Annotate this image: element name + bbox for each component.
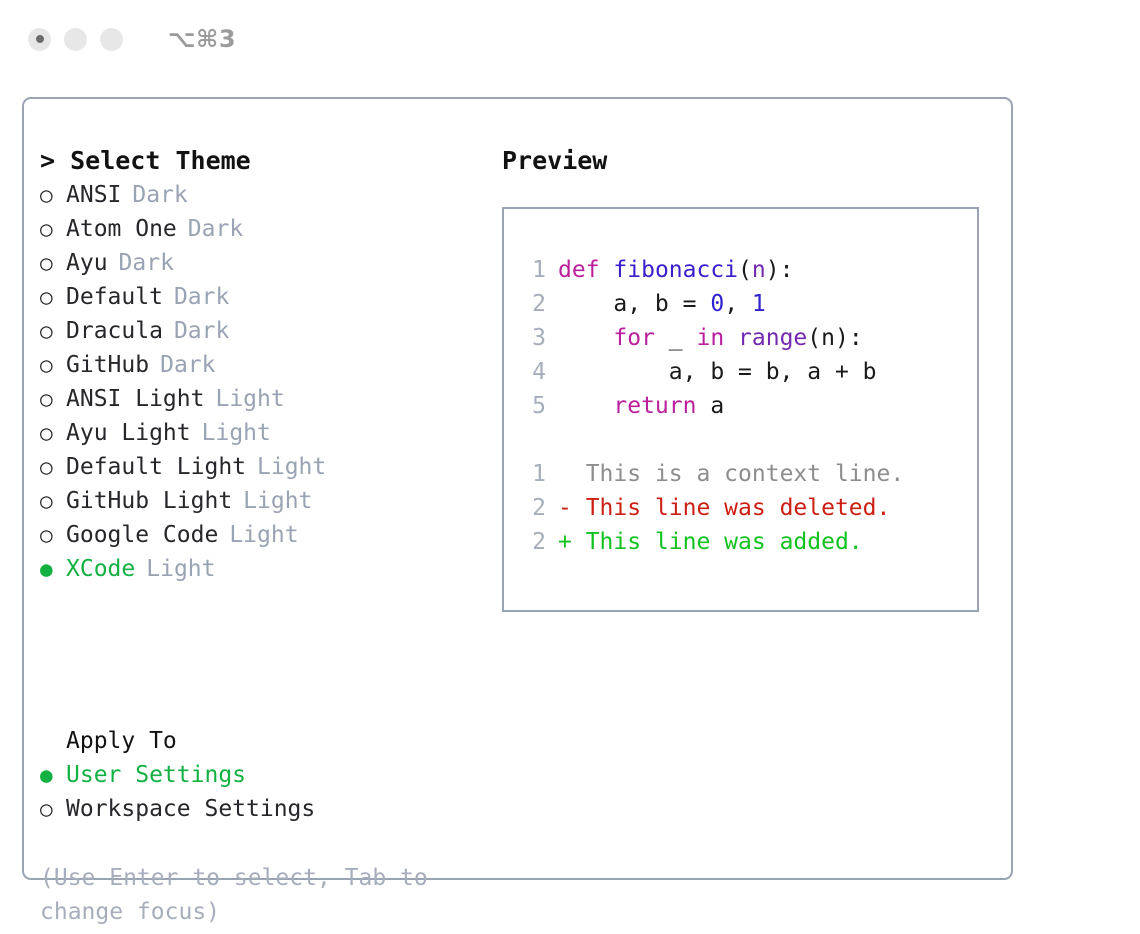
radio-unselected-icon: ○ (40, 314, 66, 348)
code-token: fibonacci (613, 257, 738, 283)
theme-kind-badge: Dark (188, 212, 243, 246)
radio-unselected-icon: ○ (40, 792, 66, 826)
code-token: ): (766, 257, 794, 283)
code-line: 4 a, b = b, a + b (522, 355, 977, 389)
theme-list-item[interactable]: ○DraculaDark (40, 314, 480, 348)
radio-unselected-icon: ○ (40, 484, 66, 518)
code-line-number: 3 (522, 321, 546, 355)
window-control-minimize[interactable] (64, 28, 87, 51)
code-token: , (724, 291, 752, 317)
theme-list: > Select Theme ○ANSIDark○Atom OneDark○Ay… (40, 144, 480, 586)
diff-line: 2- This line was deleted. (522, 491, 977, 525)
code-line: 1def fibonacci(n): (522, 253, 977, 287)
theme-kind-badge: Dark (174, 280, 229, 314)
theme-list-item[interactable]: ○Atom OneDark (40, 212, 480, 246)
theme-name: Ayu Light (66, 416, 191, 450)
theme-kind-badge: Dark (160, 348, 215, 382)
theme-list-heading: > Select Theme (40, 144, 480, 178)
radio-unselected-icon: ○ (40, 212, 66, 246)
theme-kind-badge: Light (257, 450, 326, 484)
theme-picker-panel: > Select Theme ○ANSIDark○Atom OneDark○Ay… (22, 97, 1013, 880)
code-line: 3 for _ in range(n): (522, 321, 977, 355)
code-token: return (613, 393, 696, 419)
theme-kind-badge: Light (229, 518, 298, 552)
theme-list-item[interactable]: ○GitHub LightLight (40, 484, 480, 518)
window-titlebar: ⌥⌘3 (0, 0, 1140, 78)
app-window: ⌥⌘3 > Select Theme ○ANSIDark○Atom OneDar… (0, 0, 1140, 934)
window-control-zoom[interactable] (100, 28, 123, 51)
apply-to-section: Apply To ●User Settings○Workspace Settin… (40, 724, 480, 826)
window-control-close[interactable] (28, 28, 51, 51)
code-token: n (752, 257, 766, 283)
code-token: def (558, 257, 600, 283)
preview-box: 1def fibonacci(n):2 a, b = 0, 13 for _ i… (502, 207, 979, 612)
keyboard-shortcut-label: ⌥⌘3 (168, 25, 236, 53)
diff-line-number: 2 (522, 525, 546, 559)
diff-text: This is a context line. (572, 461, 904, 487)
window-controls (28, 28, 123, 51)
apply-to-label: Workspace Settings (66, 792, 315, 826)
radio-unselected-icon: ○ (40, 280, 66, 314)
radio-unselected-icon: ○ (40, 246, 66, 280)
diff-marker: - (558, 495, 572, 521)
code-token (558, 393, 613, 419)
code-line-number: 4 (522, 355, 546, 389)
keyboard-hint-text: (Use Enter to select, Tab to change focu… (40, 861, 452, 929)
theme-name: Google Code (66, 518, 218, 552)
theme-list-item[interactable]: ○AyuDark (40, 246, 480, 280)
code-token: _ (655, 325, 697, 351)
theme-list-item[interactable]: ●XCodeLight (40, 552, 480, 586)
diff-marker (558, 461, 572, 487)
theme-list-item[interactable]: ○DefaultDark (40, 280, 480, 314)
theme-list-item[interactable]: ○Google CodeLight (40, 518, 480, 552)
code-token: for (613, 325, 655, 351)
code-line: 2 a, b = 0, 1 (522, 287, 977, 321)
code-token: in (696, 325, 724, 351)
radio-unselected-icon: ○ (40, 348, 66, 382)
radio-selected-icon: ● (40, 758, 66, 792)
apply-to-options: ●User Settings○Workspace Settings (40, 758, 480, 826)
diff-line-number: 1 (522, 457, 546, 491)
diff-line-number: 2 (522, 491, 546, 525)
code-blank-line (522, 423, 977, 457)
radio-unselected-icon: ○ (40, 382, 66, 416)
theme-name: GitHub (66, 348, 149, 382)
radio-unselected-icon: ○ (40, 450, 66, 484)
code-preview-area: 1def fibonacci(n):2 a, b = 0, 13 for _ i… (504, 209, 977, 559)
theme-name: XCode (66, 552, 135, 586)
theme-list-item[interactable]: ○Ayu LightLight (40, 416, 480, 450)
code-token (558, 325, 613, 351)
code-token: 0 (710, 291, 724, 317)
theme-list-rows: ○ANSIDark○Atom OneDark○AyuDark○DefaultDa… (40, 178, 480, 586)
theme-kind-badge: Light (202, 416, 271, 450)
code-line-number: 2 (522, 287, 546, 321)
theme-kind-badge: Light (215, 382, 284, 416)
code-token: a (696, 393, 724, 419)
theme-kind-badge: Light (146, 552, 215, 586)
preview-header: Preview (502, 144, 992, 178)
radio-unselected-icon: ○ (40, 178, 66, 212)
diff-line: 1 This is a context line. (522, 457, 977, 491)
code-line: 5 return a (522, 389, 977, 423)
code-token: (n): (807, 325, 862, 351)
theme-name: Default Light (66, 450, 246, 484)
code-token: a, b = b, a + b (558, 359, 877, 385)
apply-to-label: User Settings (66, 758, 246, 792)
theme-list-item[interactable]: ○ANSIDark (40, 178, 480, 212)
apply-to-heading: Apply To (40, 724, 480, 758)
theme-name: Atom One (66, 212, 177, 246)
theme-list-item[interactable]: ○GitHubDark (40, 348, 480, 382)
apply-to-option[interactable]: ●User Settings (40, 758, 480, 792)
code-line-number: 5 (522, 389, 546, 423)
code-token: 1 (752, 291, 766, 317)
radio-selected-icon: ● (40, 552, 66, 586)
theme-name: Ayu (66, 246, 108, 280)
theme-name: GitHub Light (66, 484, 232, 518)
radio-unselected-icon: ○ (40, 416, 66, 450)
code-token: a, b = (558, 291, 710, 317)
code-token: ( (738, 257, 752, 283)
diff-text: This line was added. (572, 529, 863, 555)
code-token (600, 257, 614, 283)
diff-marker: + (558, 529, 572, 555)
diff-text: This line was deleted. (572, 495, 891, 521)
theme-kind-badge: Dark (174, 314, 229, 348)
apply-to-option[interactable]: ○Workspace Settings (40, 792, 480, 826)
theme-name: ANSI (66, 178, 121, 212)
code-line-number: 1 (522, 253, 546, 287)
theme-kind-badge: Light (243, 484, 312, 518)
diff-line: 2+ This line was added. (522, 525, 977, 559)
theme-name: Default (66, 280, 163, 314)
code-token: range (738, 325, 807, 351)
theme-name: Dracula (66, 314, 163, 348)
code-token (724, 325, 738, 351)
preview-title: Preview (502, 144, 992, 178)
theme-list-item[interactable]: ○ANSI LightLight (40, 382, 480, 416)
theme-kind-badge: Dark (119, 246, 174, 280)
active-indicator-dot (36, 35, 44, 43)
theme-kind-badge: Dark (132, 178, 187, 212)
theme-name: ANSI Light (66, 382, 204, 416)
radio-unselected-icon: ○ (40, 518, 66, 552)
theme-list-item[interactable]: ○Default LightLight (40, 450, 480, 484)
